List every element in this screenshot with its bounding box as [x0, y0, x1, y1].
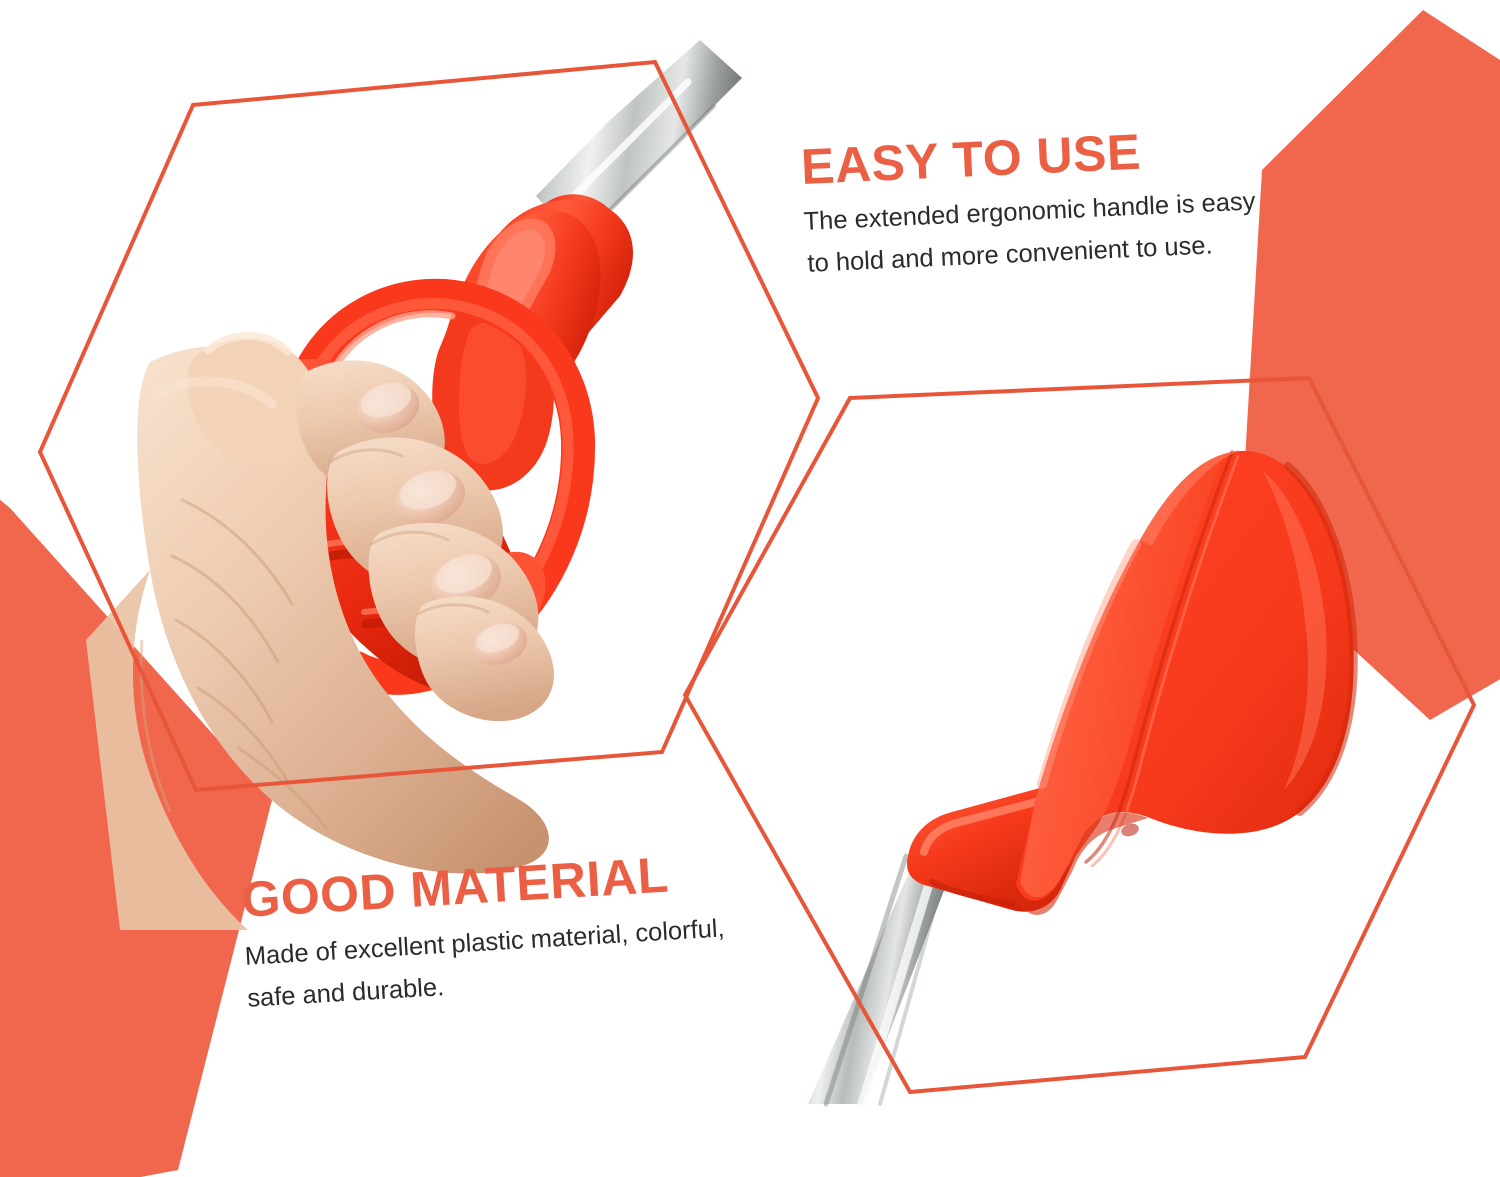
- feature-good-material: GOOD MATERIAL Made of excellent plastic …: [240, 847, 728, 1012]
- infographic-canvas: EASY TO USE The extended ergonomic handl…: [0, 0, 1500, 1177]
- feature-easy-to-use-body-line-1: The extended ergonomic handle is easy: [803, 189, 1256, 235]
- feature-easy-to-use: EASY TO USE The extended ergonomic handl…: [800, 121, 1258, 276]
- hexagon-frames-layer: [0, 0, 1500, 1177]
- hexagon-outline-left: [40, 62, 818, 790]
- hexagon-outline-right: [685, 378, 1474, 1092]
